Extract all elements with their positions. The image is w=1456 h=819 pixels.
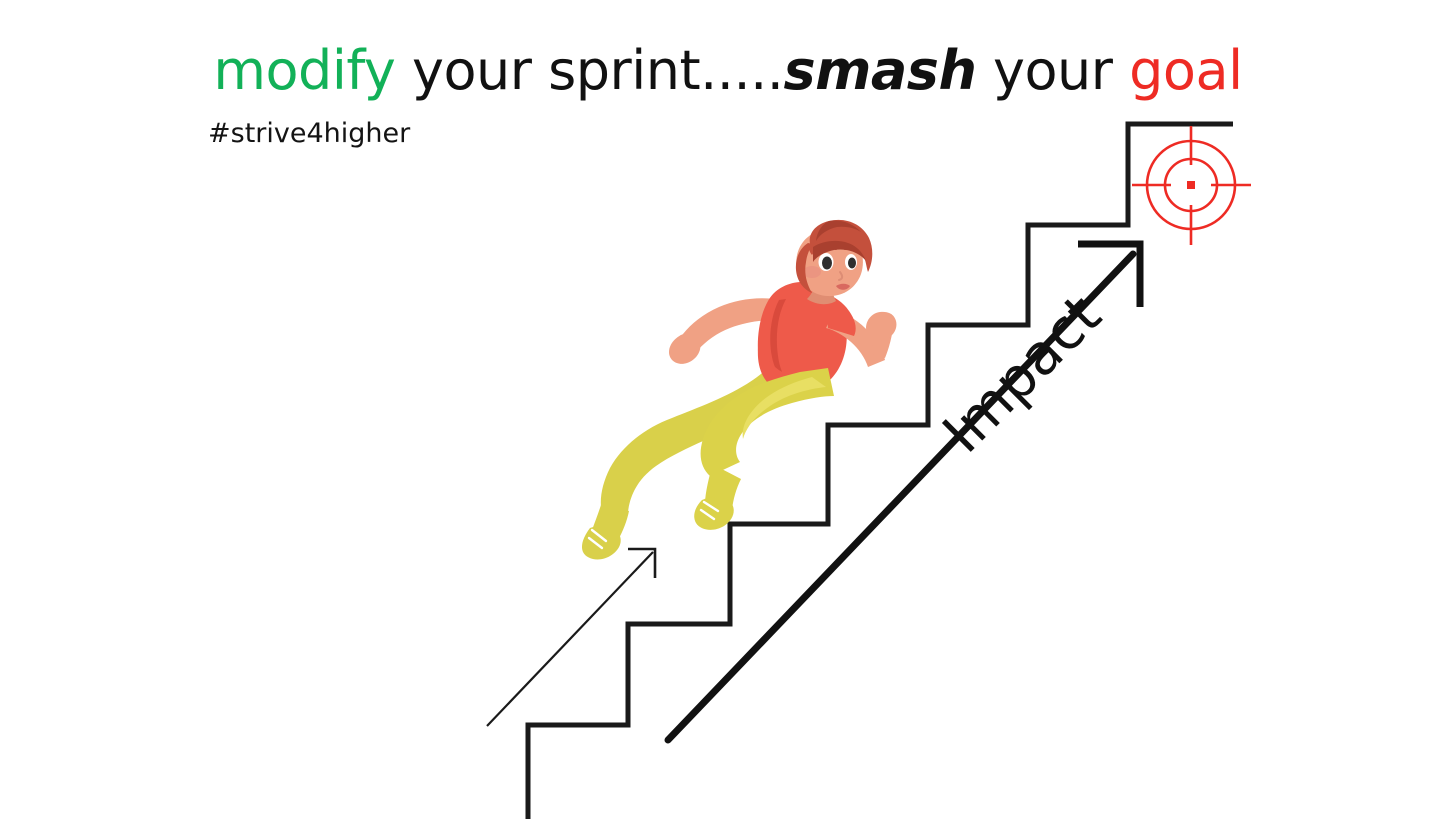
runner-figure <box>582 220 896 560</box>
runner-back-shoe <box>582 526 621 559</box>
runner-back-fist <box>669 333 700 364</box>
runner-front-fist <box>866 312 896 341</box>
illustration: Impact <box>0 0 1456 819</box>
impact-label: Impact <box>931 283 1114 466</box>
target-icon <box>1132 126 1251 245</box>
poster-canvas: modify your sprint.....smash your goal #… <box>0 0 1456 819</box>
runner-eye-left-pupil <box>822 257 832 270</box>
runner-eye-right-pupil <box>848 258 856 269</box>
